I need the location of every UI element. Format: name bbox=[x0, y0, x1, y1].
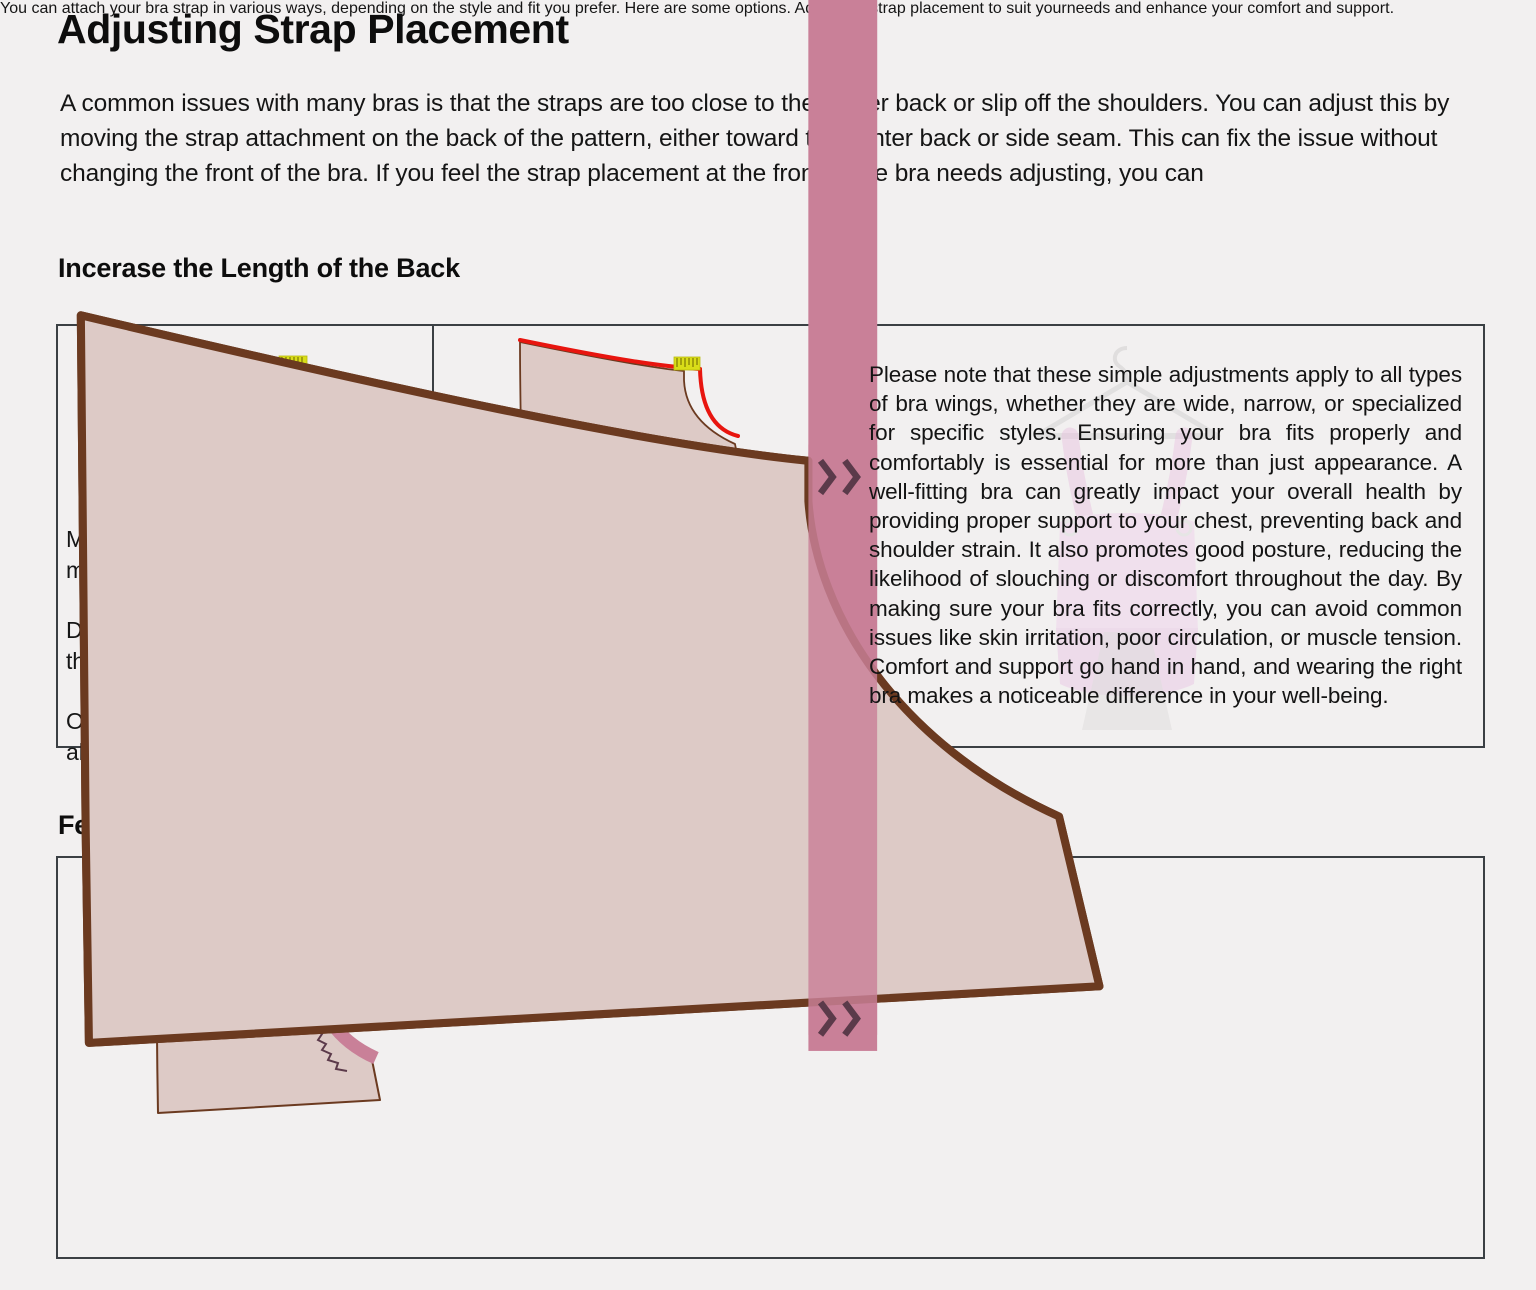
document-page: Adjusting Strap Placement A common issue… bbox=[0, 0, 1536, 1290]
note-paragraph: Please note that these simple adjustment… bbox=[869, 360, 1462, 710]
